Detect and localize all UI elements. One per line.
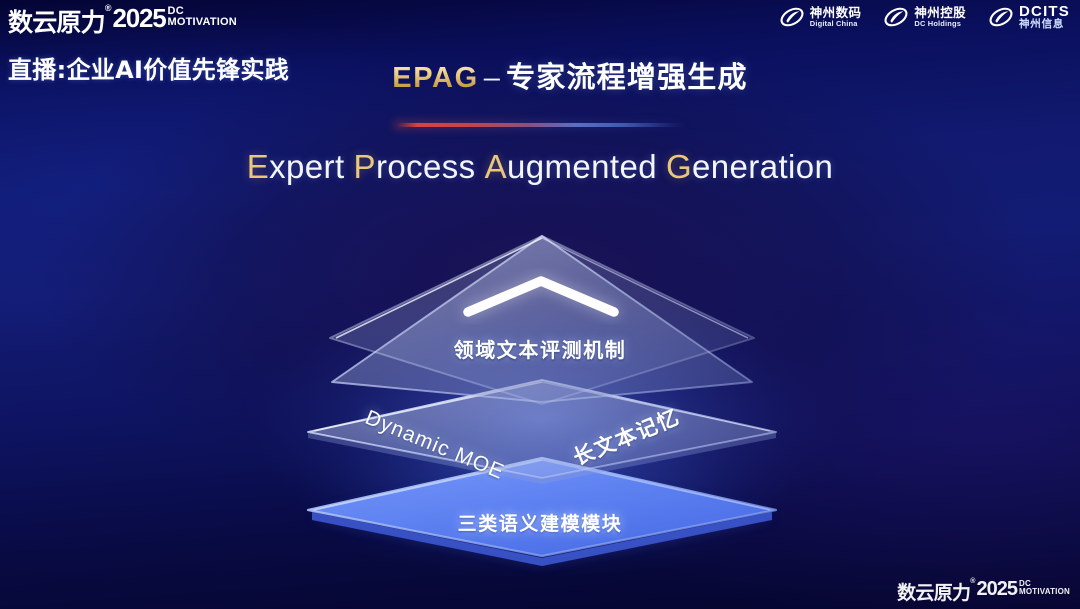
watermark-dc-block: DC MOTIVATION bbox=[1019, 580, 1070, 596]
event-logo-dc-line2: MOTIVATION bbox=[168, 17, 237, 28]
watermark-registered-mark: ® bbox=[970, 578, 975, 585]
watermark-brand-cn: 数云原力 bbox=[897, 578, 970, 605]
partner-logo-dc-holdings: 神州控股 DC Holdings bbox=[883, 4, 966, 30]
stack-label-bottom: 三类语义建模模块 bbox=[0, 509, 1080, 536]
partner-text-digital-china: 神州数码 Digital China bbox=[810, 7, 862, 27]
partner-text-dcits: DCITS 神州信息 bbox=[1019, 4, 1070, 30]
partner-name-en: Digital China bbox=[810, 20, 862, 28]
event-logo-registered-mark: ® bbox=[105, 3, 112, 13]
partner-name-cn: 神州信息 bbox=[1019, 19, 1070, 30]
stack-layer-top bbox=[330, 236, 754, 404]
partner-name-en: DC Holdings bbox=[914, 20, 966, 28]
headline-chinese: 专家流程增强生成 bbox=[506, 60, 748, 94]
subtitle-word-1-rest: rocess bbox=[376, 148, 476, 185]
event-logo-year: 2025 bbox=[112, 3, 165, 34]
event-logo-brand-cn: 数云原力 bbox=[8, 3, 105, 39]
subtitle-word-1-cap: P bbox=[354, 148, 376, 185]
stack-label-middle-right: 长文本记忆 bbox=[568, 401, 684, 472]
subtitle-word-2-rest: ugmented bbox=[507, 148, 657, 185]
headline-dash: – bbox=[484, 62, 501, 94]
partner-logo-digital-china: 神州数码 Digital China bbox=[779, 4, 862, 30]
partner-logo-bar: 神州数码 Digital China 神州控股 DC Holdings bbox=[779, 4, 1070, 30]
stack-label-top: 领域文本评测机制 bbox=[0, 334, 1080, 363]
event-logo-dc-block: DC MOTIVATION bbox=[168, 6, 237, 28]
page-subtitle: ExpertProcessAugmentedGeneration bbox=[0, 148, 1080, 186]
partner-name-cn: 神州数码 bbox=[810, 7, 862, 20]
slide-canvas: 数云原力 ® 2025 DC MOTIVATION 直播:企业AI价值先锋实践 … bbox=[0, 0, 1080, 609]
subtitle-word-0-cap: E bbox=[247, 148, 269, 185]
partner-name-en: DCITS bbox=[1019, 4, 1070, 19]
event-logo: 数云原力 ® 2025 DC MOTIVATION bbox=[8, 3, 237, 39]
swirl-logo-icon bbox=[883, 4, 909, 30]
swirl-logo-icon bbox=[988, 4, 1014, 30]
partner-logo-dcits: DCITS 神州信息 bbox=[988, 4, 1070, 30]
subtitle-word-3-rest: eneration bbox=[692, 148, 833, 185]
partner-text-dc-holdings: 神州控股 DC Holdings bbox=[914, 7, 966, 27]
live-banner-text: 直播:企业AI价值先锋实践 bbox=[8, 50, 289, 85]
subtitle-word-3-cap: G bbox=[666, 148, 692, 185]
stack-label-middle-left: Dynamic MOE bbox=[361, 406, 507, 485]
partner-name-cn: 神州控股 bbox=[914, 7, 966, 20]
footer-watermark: 数云原力 ® 2025 DC MOTIVATION bbox=[897, 578, 1070, 605]
headline-acronym: EPAG bbox=[392, 62, 478, 94]
swirl-logo-icon bbox=[779, 4, 805, 30]
watermark-year: 2025 bbox=[976, 578, 1017, 601]
subtitle-word-2-cap: A bbox=[485, 148, 507, 185]
gradient-divider bbox=[397, 123, 687, 127]
subtitle-word-0-rest: xpert bbox=[269, 148, 344, 185]
watermark-dc-line2: MOTIVATION bbox=[1019, 588, 1070, 596]
chevron-up-icon bbox=[468, 281, 614, 312]
